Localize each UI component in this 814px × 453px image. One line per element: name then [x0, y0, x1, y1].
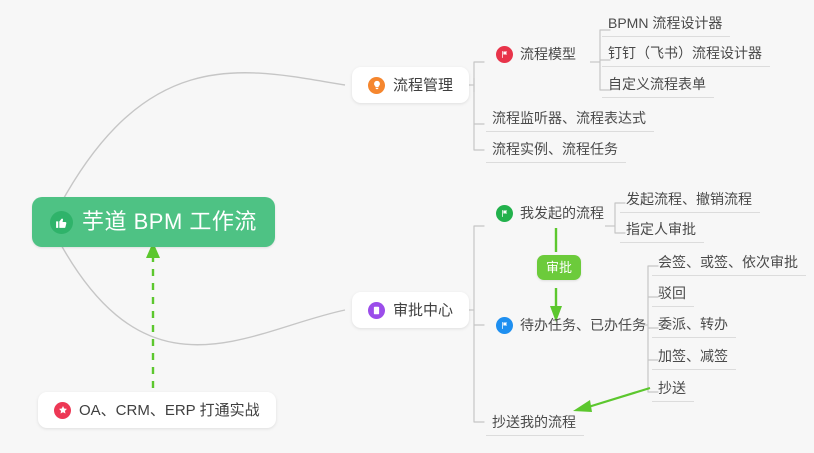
node-my-initiated-process[interactable]: 我发起的流程: [490, 199, 612, 227]
node-label: 指定人审批: [626, 222, 696, 236]
node-assignee-approval[interactable]: 指定人审批: [620, 215, 704, 243]
root-node[interactable]: 芋道 BPM 工作流: [32, 197, 275, 247]
node-label: 待办任务、已办任务: [520, 318, 646, 332]
arrow-cc-line: [585, 388, 650, 408]
link-pm-vertical: [474, 62, 484, 150]
node-bpmn-designer[interactable]: BPMN 流程设计器: [602, 9, 730, 37]
approval-badge-label: 审批: [546, 260, 572, 275]
node-process-listener-expression[interactable]: 流程监听器、流程表达式: [486, 104, 654, 132]
integration-card-label: OA、CRM、ERP 打通实战: [79, 403, 260, 418]
node-label: 钉钉（飞书）流程设计器: [608, 46, 762, 60]
link-root-to-approval-center: [60, 243, 345, 345]
root-label: 芋道 BPM 工作流: [82, 211, 257, 233]
node-label: 流程模型: [520, 47, 576, 61]
link-ac-vertical: [474, 226, 484, 422]
node-cc[interactable]: 抄送: [652, 374, 694, 402]
node-label: 自定义流程表单: [608, 77, 706, 91]
node-label: 驳回: [658, 286, 686, 300]
node-custom-process-form[interactable]: 自定义流程表单: [602, 70, 714, 98]
node-label: 加签、减签: [658, 349, 728, 363]
node-label: 委派、转办: [658, 317, 728, 331]
node-process-instance-task[interactable]: 流程实例、流程任务: [486, 135, 626, 163]
node-add-remove-sign[interactable]: 加签、减签: [652, 342, 736, 370]
node-label: BPMN 流程设计器: [608, 16, 722, 30]
node-dingtalk-feishu-designer[interactable]: 钉钉（飞书）流程设计器: [602, 39, 770, 67]
flag-icon: [496, 317, 513, 334]
node-label: 流程实例、流程任务: [492, 142, 618, 156]
node-label: 我发起的流程: [520, 206, 604, 220]
link-root-to-process-management: [60, 73, 345, 205]
branch-process-management[interactable]: 流程管理: [352, 67, 469, 103]
node-delegate-transfer[interactable]: 委派、转办: [652, 310, 736, 338]
flag-icon: [496, 46, 513, 63]
node-countersign-or-sequential[interactable]: 会签、或签、依次审批: [652, 248, 806, 276]
node-todo-done-tasks[interactable]: 待办任务、已办任务: [490, 311, 654, 339]
document-icon: [368, 302, 385, 319]
node-label: 会签、或签、依次审批: [658, 255, 798, 269]
node-process-model[interactable]: 流程模型: [490, 40, 584, 68]
node-start-cancel-process[interactable]: 发起流程、撤销流程: [620, 185, 760, 213]
node-reject[interactable]: 驳回: [652, 279, 694, 307]
branch-label: 流程管理: [393, 78, 453, 93]
node-label: 抄送我的流程: [492, 415, 576, 429]
mindmap-canvas: 芋道 BPM 工作流 流程管理 流程模型 BPMN 流程设计器 钉钉（飞书）流程…: [0, 0, 814, 453]
branch-approval-center[interactable]: 审批中心: [352, 292, 469, 328]
node-cc-to-me-process[interactable]: 抄送我的流程: [486, 408, 584, 436]
lightbulb-icon: [368, 77, 385, 94]
thumbs-up-icon: [50, 211, 73, 234]
node-label: 流程监听器、流程表达式: [492, 111, 646, 125]
node-label: 发起流程、撤销流程: [626, 192, 752, 206]
integration-card[interactable]: OA、CRM、ERP 打通实战: [38, 392, 276, 428]
approval-badge[interactable]: 审批: [537, 255, 581, 280]
node-label: 抄送: [658, 381, 686, 395]
branch-label: 审批中心: [393, 303, 453, 318]
flag-icon: [496, 205, 513, 222]
star-icon: [54, 402, 71, 419]
